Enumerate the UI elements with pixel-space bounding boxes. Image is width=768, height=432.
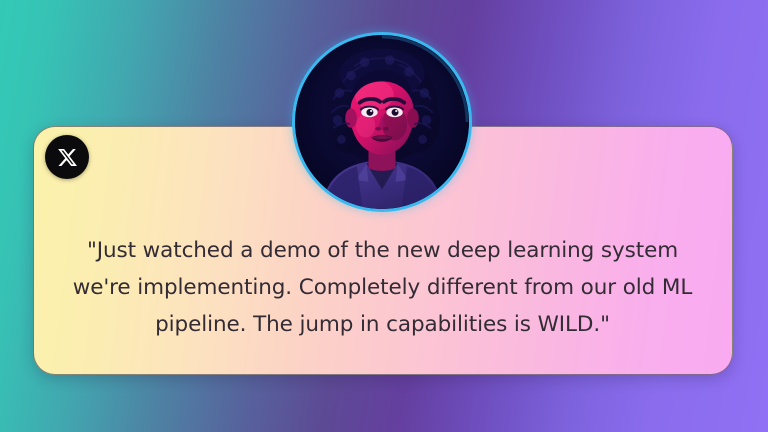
- x-twitter-icon: [57, 147, 78, 168]
- profile-avatar[interactable]: [292, 32, 472, 212]
- quote-text: "Just watched a demo of the new deep lea…: [60, 232, 705, 343]
- x-platform-badge[interactable]: [45, 135, 89, 179]
- social-quote-card-graphic: "Just watched a demo of the new deep lea…: [0, 0, 768, 432]
- avatar-portrait-illustration: [295, 35, 469, 209]
